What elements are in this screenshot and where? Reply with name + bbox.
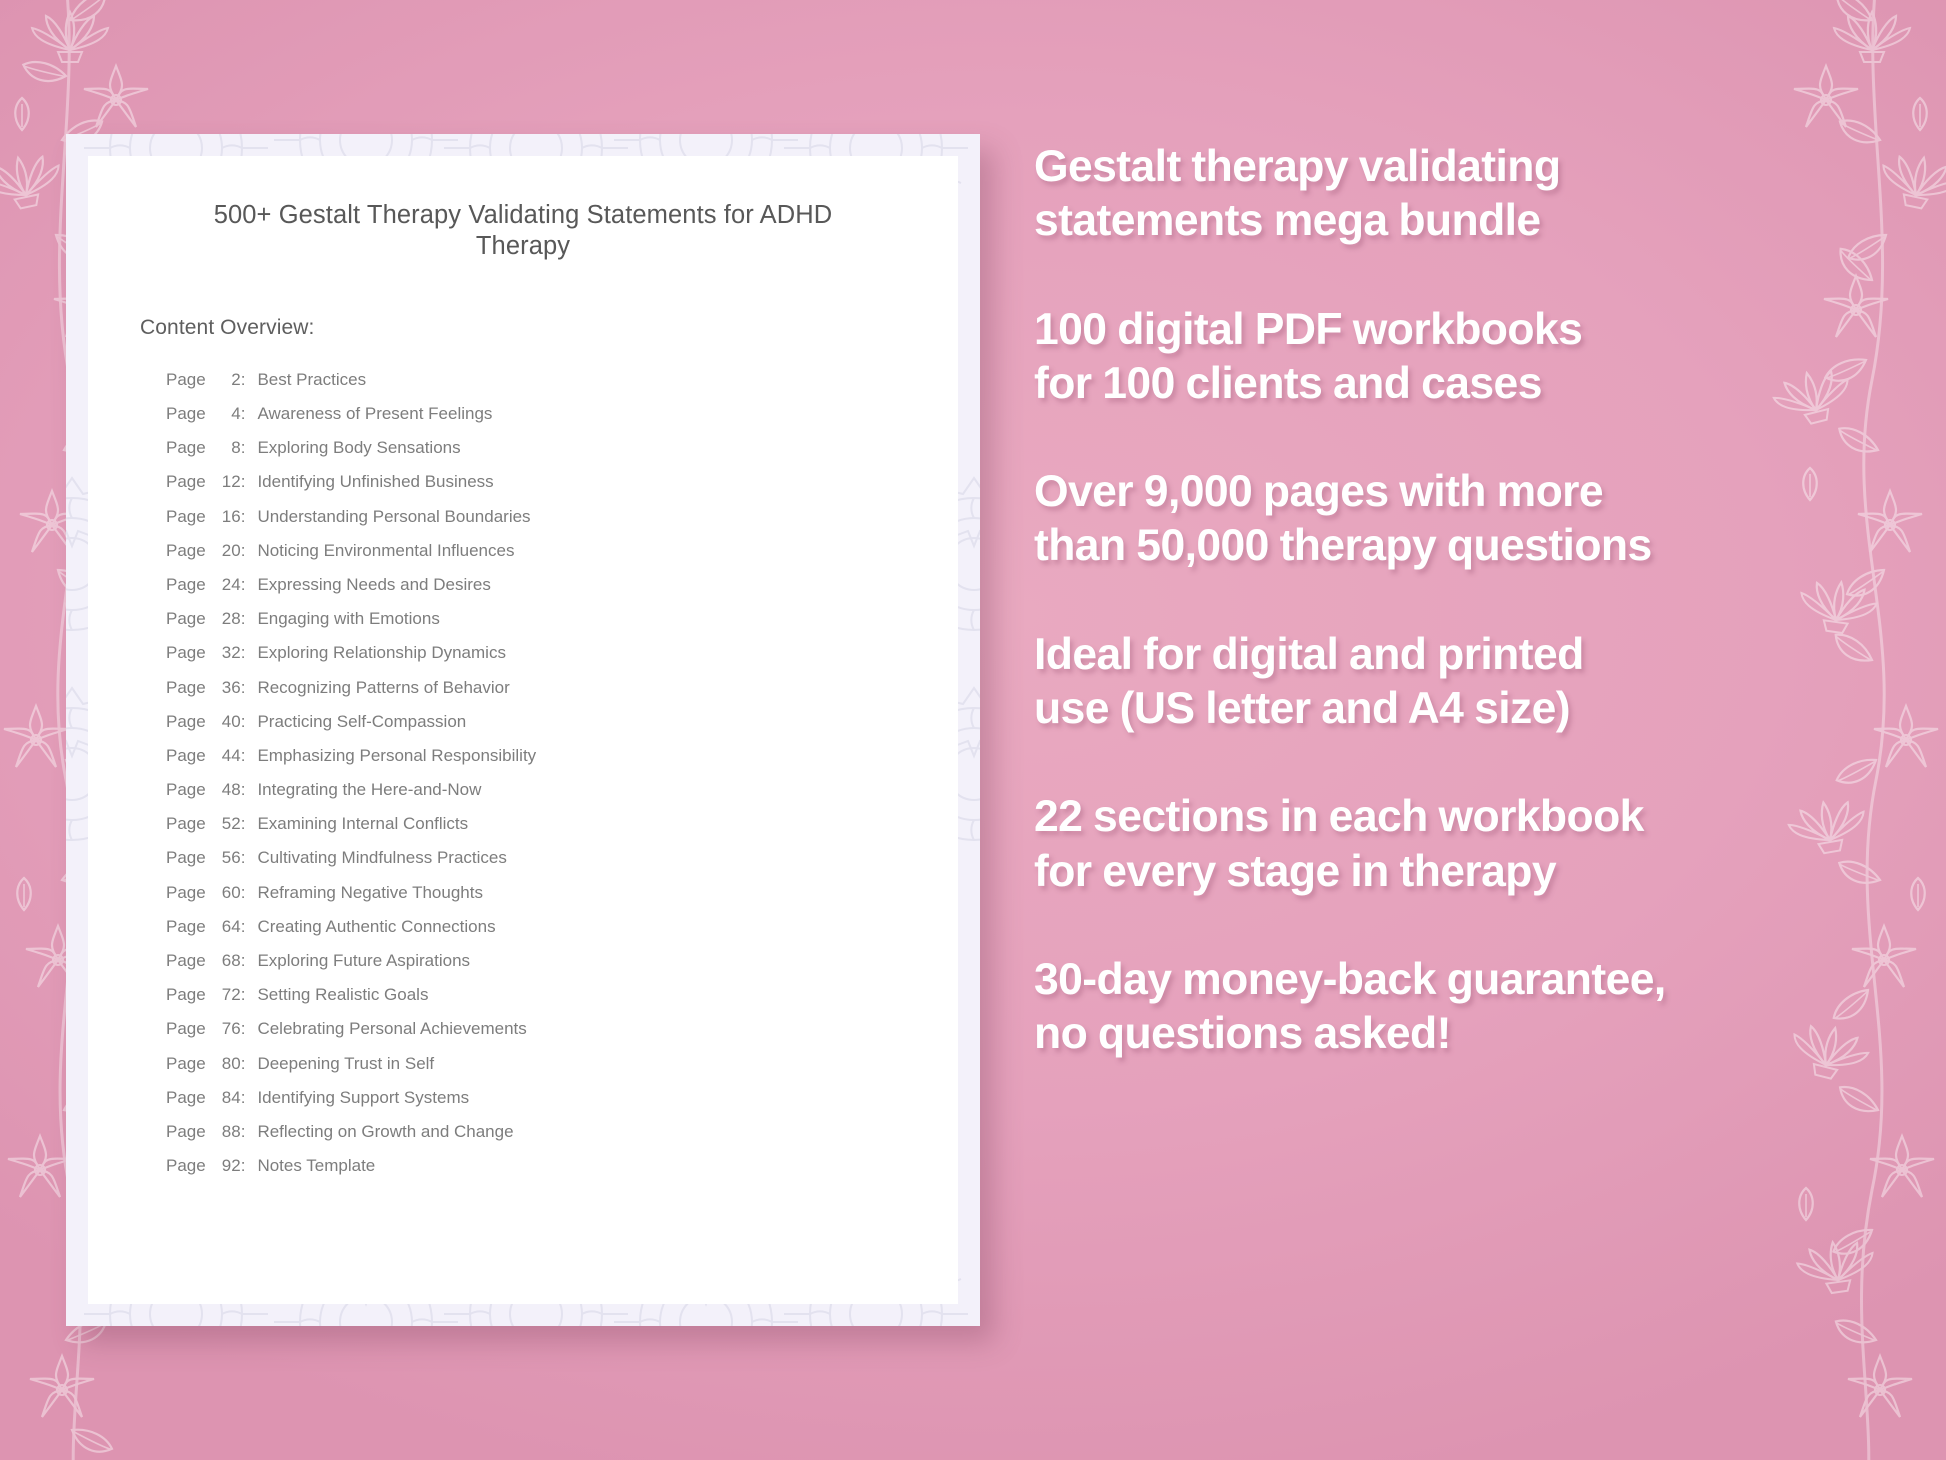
content-overview-heading: Content Overview:: [140, 316, 906, 340]
toc-section-title: Notes Template: [257, 1157, 375, 1174]
toc-page-label: Page: [166, 884, 206, 901]
toc-colon: :: [241, 952, 246, 969]
toc-item: Page84:Identifying Support Systems: [166, 1080, 906, 1114]
toc-page-label: Page: [166, 1055, 206, 1072]
toc-section-title: Deepening Trust in Self: [257, 1055, 434, 1072]
toc-page-number: 2: [211, 371, 241, 388]
promo-canvas: 500+ Gestalt Therapy Validating Statemen…: [0, 0, 1946, 1460]
benefit-item: Gestalt therapy validatingstatements meg…: [1034, 140, 1864, 249]
toc-item: Page88:Reflecting on Growth and Change: [166, 1114, 906, 1148]
toc-section-title: Recognizing Patterns of Behavior: [257, 679, 509, 696]
toc-colon: :: [241, 439, 246, 456]
toc-item: Page48:Integrating the Here-and-Now: [166, 772, 906, 806]
toc-page-label: Page: [166, 952, 206, 969]
toc-section-title: Engaging with Emotions: [257, 610, 439, 627]
toc-page-number: 4: [211, 405, 241, 422]
toc-page-number: 24: [211, 576, 241, 593]
toc-page-number: 64: [211, 918, 241, 935]
toc-section-title: Celebrating Personal Achievements: [257, 1020, 526, 1037]
toc-page-number: 80: [211, 1055, 241, 1072]
toc-page-label: Page: [166, 1123, 206, 1140]
toc-item: Page44:Emphasizing Personal Responsibili…: [166, 738, 906, 772]
toc-colon: :: [241, 815, 246, 832]
toc-section-title: Cultivating Mindfulness Practices: [257, 849, 506, 866]
toc-section-title: Examining Internal Conflicts: [257, 815, 468, 832]
benefit-item: 100 digital PDF workbooksfor 100 clients…: [1034, 303, 1864, 412]
toc-item: Page4:Awareness of Present Feelings: [166, 396, 906, 430]
toc-page-label: Page: [166, 986, 206, 1003]
benefit-line-2: use (US letter and A4 size): [1034, 682, 1864, 736]
toc-colon: :: [241, 747, 246, 764]
toc-colon: :: [241, 405, 246, 422]
toc-page-label: Page: [166, 405, 206, 422]
toc-section-title: Creating Authentic Connections: [257, 918, 495, 935]
toc-section-title: Exploring Relationship Dynamics: [257, 644, 506, 661]
benefit-item: Over 9,000 pages with morethan 50,000 th…: [1034, 465, 1864, 574]
toc-colon: :: [241, 679, 246, 696]
toc-item: Page56:Cultivating Mindfulness Practices: [166, 841, 906, 875]
toc-colon: :: [241, 576, 246, 593]
toc-section-title: Awareness of Present Feelings: [257, 405, 492, 422]
table-of-contents: Page2:Best PracticesPage4:Awareness of P…: [140, 362, 906, 1183]
toc-page-label: Page: [166, 610, 206, 627]
toc-colon: :: [241, 849, 246, 866]
toc-page-number: 20: [211, 542, 241, 559]
benefit-line-2: statements mega bundle: [1034, 194, 1864, 248]
toc-section-title: Identifying Unfinished Business: [257, 473, 493, 490]
toc-item: Page40:Practicing Self-Compassion: [166, 704, 906, 738]
toc-item: Page8:Exploring Body Sensations: [166, 431, 906, 465]
toc-page-label: Page: [166, 1157, 206, 1174]
toc-colon: :: [241, 918, 246, 935]
benefit-line-1: 30-day money-back guarantee,: [1034, 953, 1864, 1007]
toc-page-number: 84: [211, 1089, 241, 1106]
toc-section-title: Expressing Needs and Desires: [257, 576, 490, 593]
benefit-line-2: no questions asked!: [1034, 1007, 1864, 1061]
toc-item: Page76:Celebrating Personal Achievements: [166, 1012, 906, 1046]
toc-item: Page24:Expressing Needs and Desires: [166, 567, 906, 601]
toc-item: Page52:Examining Internal Conflicts: [166, 807, 906, 841]
toc-colon: :: [241, 1157, 246, 1174]
benefit-line-2: for every stage in therapy: [1034, 845, 1864, 899]
toc-page-number: 52: [211, 815, 241, 832]
toc-page-number: 72: [211, 986, 241, 1003]
toc-page-number: 88: [211, 1123, 241, 1140]
toc-section-title: Identifying Support Systems: [257, 1089, 469, 1106]
toc-page-label: Page: [166, 679, 206, 696]
toc-colon: :: [241, 508, 246, 525]
toc-page-number: 28: [211, 610, 241, 627]
toc-item: Page92:Notes Template: [166, 1149, 906, 1183]
document-preview-card[interactable]: 500+ Gestalt Therapy Validating Statemen…: [66, 134, 980, 1326]
toc-page-label: Page: [166, 576, 206, 593]
toc-colon: :: [241, 1020, 246, 1037]
toc-item: Page36:Recognizing Patterns of Behavior: [166, 670, 906, 704]
toc-section-title: Practicing Self-Compassion: [257, 713, 466, 730]
toc-page-label: Page: [166, 371, 206, 388]
benefit-item: Ideal for digital and printeduse (US let…: [1034, 628, 1864, 737]
toc-item: Page68:Exploring Future Aspirations: [166, 943, 906, 977]
toc-page-label: Page: [166, 713, 206, 730]
toc-page-label: Page: [166, 849, 206, 866]
document-title: 500+ Gestalt Therapy Validating Statemen…: [140, 200, 906, 262]
toc-colon: :: [241, 986, 246, 1003]
toc-page-label: Page: [166, 747, 206, 764]
toc-colon: :: [241, 473, 246, 490]
toc-colon: :: [241, 713, 246, 730]
toc-page-number: 92: [211, 1157, 241, 1174]
toc-page-number: 48: [211, 781, 241, 798]
benefit-line-1: Ideal for digital and printed: [1034, 628, 1864, 682]
toc-page-label: Page: [166, 473, 206, 490]
toc-item: Page12:Identifying Unfinished Business: [166, 465, 906, 499]
toc-colon: :: [241, 1089, 246, 1106]
toc-page-number: 68: [211, 952, 241, 969]
toc-page-number: 12: [211, 473, 241, 490]
toc-page-label: Page: [166, 815, 206, 832]
toc-section-title: Integrating the Here-and-Now: [257, 781, 481, 798]
toc-item: Page20:Noticing Environmental Influences: [166, 533, 906, 567]
toc-page-number: 44: [211, 747, 241, 764]
toc-page-label: Page: [166, 439, 206, 456]
toc-item: Page28:Engaging with Emotions: [166, 602, 906, 636]
toc-colon: :: [241, 610, 246, 627]
benefit-item: 30-day money-back guarantee,no questions…: [1034, 953, 1864, 1062]
toc-section-title: Reframing Negative Thoughts: [257, 884, 483, 901]
toc-section-title: Exploring Future Aspirations: [257, 952, 470, 969]
toc-item: Page2:Best Practices: [166, 362, 906, 396]
toc-colon: :: [241, 1055, 246, 1072]
toc-page-label: Page: [166, 918, 206, 935]
benefit-line-1: 100 digital PDF workbooks: [1034, 303, 1864, 357]
toc-page-number: 8: [211, 439, 241, 456]
toc-page-number: 16: [211, 508, 241, 525]
toc-item: Page80:Deepening Trust in Self: [166, 1046, 906, 1080]
benefit-item: 22 sections in each workbookfor every st…: [1034, 790, 1864, 899]
toc-section-title: Noticing Environmental Influences: [257, 542, 514, 559]
toc-page-label: Page: [166, 1089, 206, 1106]
benefits-list: Gestalt therapy validatingstatements meg…: [1034, 140, 1864, 1061]
toc-item: Page60:Reframing Negative Thoughts: [166, 875, 906, 909]
toc-section-title: Reflecting on Growth and Change: [257, 1123, 513, 1140]
toc-page-number: 32: [211, 644, 241, 661]
toc-page-number: 76: [211, 1020, 241, 1037]
toc-page-label: Page: [166, 781, 206, 798]
document-page: 500+ Gestalt Therapy Validating Statemen…: [88, 156, 958, 1304]
toc-colon: :: [241, 1123, 246, 1140]
benefit-line-2: than 50,000 therapy questions: [1034, 519, 1864, 573]
toc-item: Page16:Understanding Personal Boundaries: [166, 499, 906, 533]
toc-section-title: Setting Realistic Goals: [257, 986, 428, 1003]
toc-colon: :: [241, 644, 246, 661]
toc-section-title: Emphasizing Personal Responsibility: [257, 747, 536, 764]
benefit-line-2: for 100 clients and cases: [1034, 357, 1864, 411]
toc-page-label: Page: [166, 542, 206, 559]
toc-item: Page64:Creating Authentic Connections: [166, 909, 906, 943]
toc-page-number: 56: [211, 849, 241, 866]
toc-colon: :: [241, 781, 246, 798]
toc-page-number: 36: [211, 679, 241, 696]
benefit-line-1: Over 9,000 pages with more: [1034, 465, 1864, 519]
toc-colon: :: [241, 371, 246, 388]
toc-page-label: Page: [166, 644, 206, 661]
toc-page-label: Page: [166, 508, 206, 525]
benefit-line-1: 22 sections in each workbook: [1034, 790, 1864, 844]
toc-section-title: Exploring Body Sensations: [257, 439, 460, 456]
toc-page-label: Page: [166, 1020, 206, 1037]
toc-page-number: 60: [211, 884, 241, 901]
toc-page-number: 40: [211, 713, 241, 730]
toc-item: Page72:Setting Realistic Goals: [166, 978, 906, 1012]
toc-item: Page32:Exploring Relationship Dynamics: [166, 636, 906, 670]
toc-colon: :: [241, 542, 246, 559]
toc-colon: :: [241, 884, 246, 901]
benefit-line-1: Gestalt therapy validating: [1034, 140, 1864, 194]
toc-section-title: Best Practices: [257, 371, 366, 388]
toc-section-title: Understanding Personal Boundaries: [257, 508, 530, 525]
